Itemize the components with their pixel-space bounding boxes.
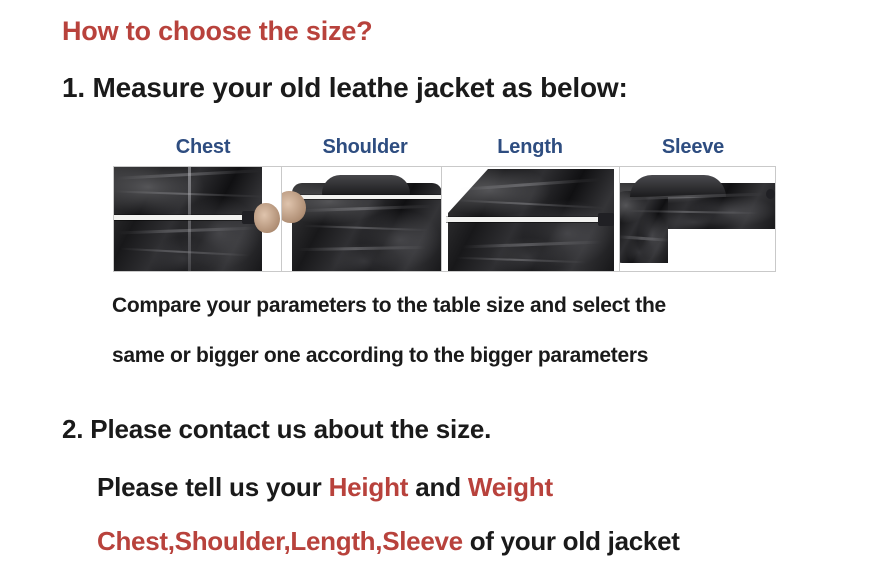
measurement-label-shoulder: Shoulder (322, 136, 407, 159)
size-guide-page: How to choose the size? 1. Measure your … (0, 0, 872, 586)
photo-shoulder-measurement (282, 167, 442, 271)
tell-prefix-text: Please tell us your (97, 472, 329, 502)
photo-length-measurement (442, 167, 620, 271)
photo-chest-measurement (114, 167, 282, 271)
measurement-label-chest: Chest (176, 136, 231, 159)
measurement-label-sleeve: Sleeve (662, 136, 724, 159)
measurement-keywords: Chest,Shoulder,Length,Sleeve (97, 526, 463, 556)
measurement-label-length: Length (497, 136, 562, 159)
weight-keyword: Weight (468, 472, 553, 502)
step-1-heading: 1. Measure your old leathe jacket as bel… (62, 72, 628, 104)
measurements-line: Chest,Shoulder,Length,Sleeve of your old… (97, 526, 680, 557)
compare-text-line-2: same or bigger one according to the bigg… (112, 344, 648, 368)
measurement-photo-strip (113, 166, 776, 272)
height-keyword: Height (329, 472, 409, 502)
step-2-heading: 2. Please contact us about the size. (62, 414, 491, 445)
page-title: How to choose the size? (62, 16, 372, 47)
compare-text-line-1: Compare your parameters to the table siz… (112, 294, 666, 318)
measurement-labels-row: Chest Shoulder Length Sleeve (113, 136, 776, 162)
tell-and-text: and (408, 472, 468, 502)
photo-sleeve-measurement (620, 167, 775, 271)
measurements-suffix-text: of your old jacket (463, 526, 680, 556)
tell-us-line: Please tell us your Height and Weight (97, 472, 553, 503)
